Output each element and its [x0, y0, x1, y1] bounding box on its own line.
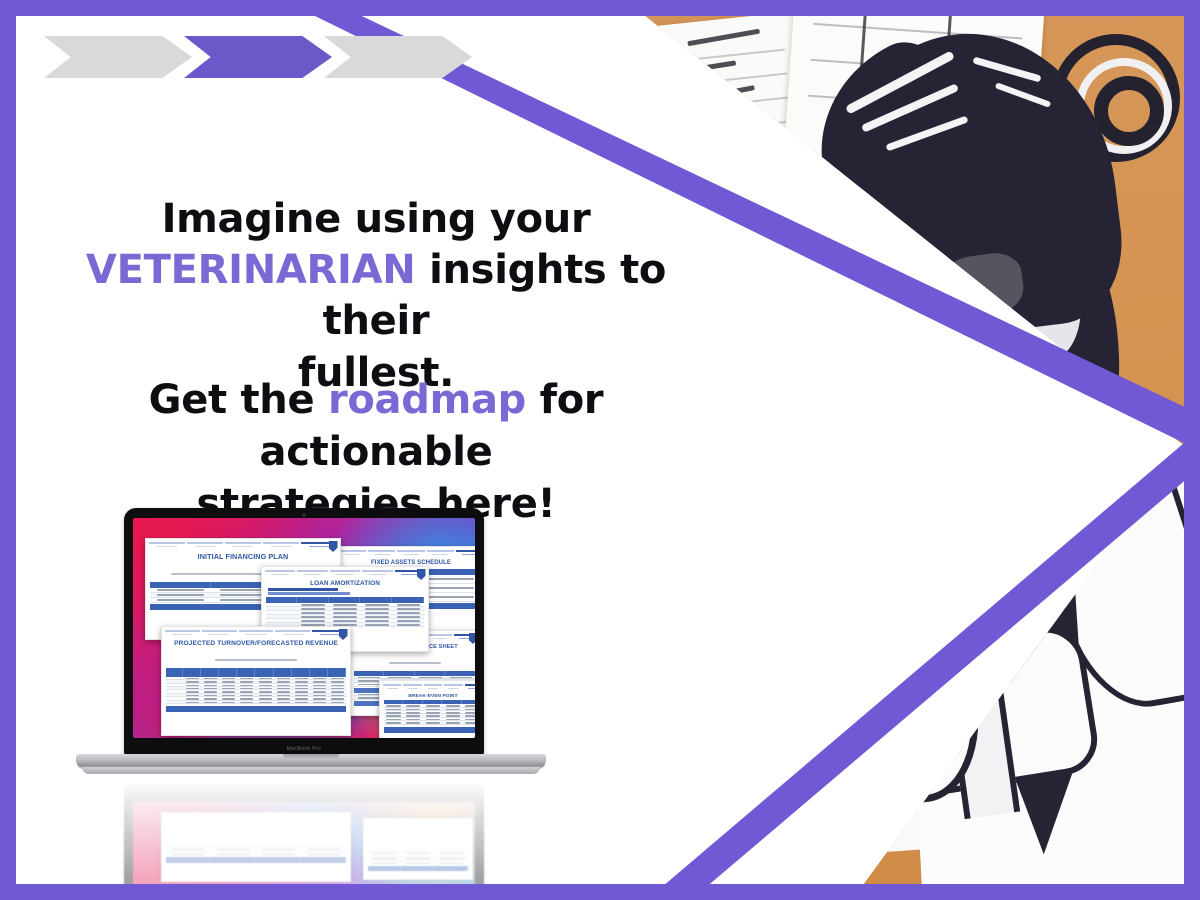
macbook-base: [76, 754, 546, 770]
tab-charges[interactable]: [275, 630, 310, 636]
subheadline-accent-keyword: roadmap: [328, 377, 526, 423]
content-column: Imagine using your VETERINARIAN insights…: [16, 16, 716, 884]
tab-dashboard[interactable]: [465, 684, 475, 690]
tab-revenue[interactable]: [239, 630, 274, 636]
progress-chevrons: [44, 36, 464, 78]
document-card-break-even-point[interactable]: BREAK-EVEN POINT: [379, 680, 475, 738]
headline-text: Imagine using your VETERINARIAN insights…: [46, 194, 706, 399]
tab-investments[interactable]: [265, 570, 295, 576]
tab-financing[interactable]: [403, 684, 421, 690]
document-table: [166, 668, 346, 712]
tab-investments[interactable]: [149, 542, 185, 548]
tab-charges[interactable]: [444, 684, 462, 690]
progress-step-3[interactable]: [324, 36, 472, 78]
tab-investments[interactable]: [383, 684, 401, 690]
shield-icon: [475, 549, 476, 560]
document-title: LOAN AMORTIZATION: [262, 580, 428, 587]
tab-financing[interactable]: [368, 550, 395, 556]
tab-financing[interactable]: [187, 542, 223, 548]
tab-charges[interactable]: [429, 634, 452, 640]
tab-revenue[interactable]: [424, 684, 442, 690]
man-beard: [885, 363, 1037, 493]
macbook-brand-label: MacBook Pro: [124, 746, 484, 752]
macbook-screen: INITIAL FINANCING PLAN: [133, 518, 475, 738]
tab-charges[interactable]: [263, 542, 299, 548]
man-neck: [955, 444, 1098, 594]
slide-canvas: Imagine using your VETERINARIAN insights…: [16, 16, 1184, 884]
tab-revenue[interactable]: [330, 570, 360, 576]
tab-investments[interactable]: [165, 630, 200, 636]
tab-charges[interactable]: [362, 570, 392, 576]
document-subtitle: [350, 651, 475, 669]
document-tabs[interactable]: [262, 567, 428, 577]
document-table: [384, 700, 475, 733]
slide-root: Imagine using your VETERINARIAN insights…: [0, 0, 1200, 900]
tab-investments[interactable]: [339, 550, 366, 556]
document-title: PROJECTED TURNOVER/FORECASTED REVENUE: [162, 640, 350, 647]
line-chart-paper: [750, 290, 887, 467]
document-subtitle: [162, 648, 350, 666]
document-card-projected-turnover[interactable]: PROJECTED TURNOVER/FORECASTED REVENUE: [161, 626, 351, 736]
tab-charges[interactable]: [427, 550, 454, 556]
man-nose: [847, 270, 913, 341]
reflection-document-1: [161, 812, 351, 882]
man-eyeglasses-bridge: [922, 273, 943, 283]
man-eyeglasses-left-lens: [837, 252, 933, 339]
man-jaw: [860, 314, 1061, 497]
progress-step-2[interactable]: [184, 36, 332, 78]
reflection-document-2: [363, 818, 473, 880]
held-magnifier-handle: [811, 627, 846, 736]
macbook-lid: INITIAL FINANCING PLAN: [124, 508, 484, 756]
macbook-lid-notch: [283, 754, 339, 760]
progress-step-1[interactable]: [44, 36, 192, 78]
tab-financing[interactable]: [202, 630, 237, 636]
document-tabs[interactable]: [336, 547, 475, 557]
tab-financing[interactable]: [297, 570, 327, 576]
headline-line1: Imagine using your: [162, 196, 591, 242]
shield-icon: [475, 683, 476, 694]
document-title: BREAK-EVEN POINT: [380, 694, 475, 699]
illustrated-man: [766, 26, 1184, 884]
document-tabs[interactable]: [162, 627, 350, 637]
document-table: [266, 588, 424, 627]
macbook-foot: [82, 767, 540, 774]
document-title: INITIAL FINANCING PLAN: [146, 552, 340, 561]
tab-revenue[interactable]: [397, 550, 424, 556]
subheadline-text: Get the roadmap for actionable strategie…: [36, 374, 716, 530]
macbook-reflection-screen: [133, 802, 475, 884]
document-tabs[interactable]: [146, 539, 340, 549]
shield-icon: [469, 633, 476, 644]
shield-icon: [417, 569, 426, 580]
macbook-mockup: INITIAL FINANCING PLAN: [76, 508, 546, 798]
webcam-icon: [302, 513, 306, 517]
shield-icon: [329, 541, 338, 552]
shield-icon: [339, 629, 348, 640]
subheadline-pre: Get the: [149, 377, 315, 423]
document-tabs[interactable]: [380, 681, 475, 691]
tab-dashboard[interactable]: [456, 550, 475, 556]
held-magnifier-lens: [756, 481, 915, 660]
man-hair: [807, 17, 1131, 350]
tab-revenue[interactable]: [225, 542, 261, 548]
document-title: FIXED ASSETS SCHEDULE: [336, 560, 475, 566]
macbook-reflection: [76, 780, 546, 884]
headline-accent-keyword: VETERINARIAN: [86, 247, 416, 293]
macbook-reflection-lid: [124, 784, 484, 884]
